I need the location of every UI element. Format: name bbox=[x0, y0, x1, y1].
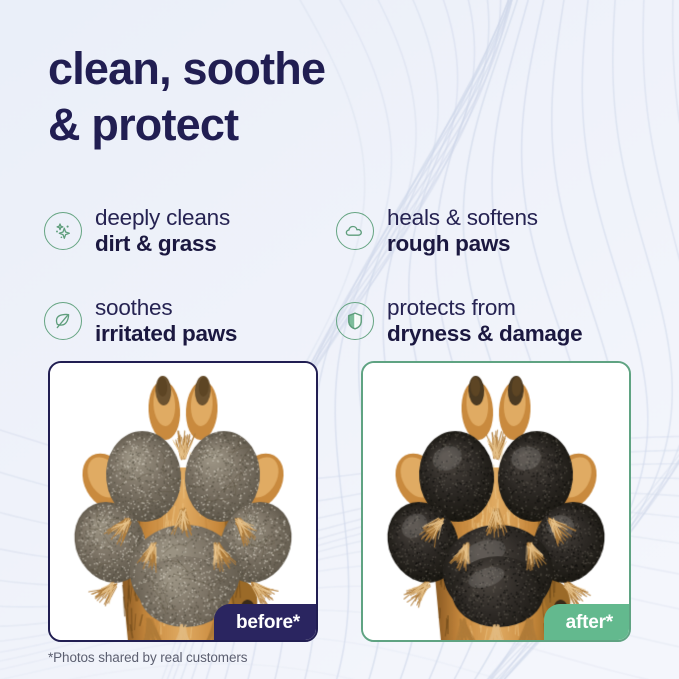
before-after-comparison: before* after* bbox=[48, 361, 631, 642]
feature-line-primary: heals & softens bbox=[387, 205, 538, 231]
product-benefits-page: clean, soothe & protect deeply cleans di… bbox=[0, 0, 679, 679]
dog-paw-photo-before bbox=[50, 363, 316, 640]
feature-text: heals & softens rough paws bbox=[387, 205, 538, 257]
shield-icon bbox=[336, 302, 374, 340]
footnote-disclaimer: *Photos shared by real customers bbox=[48, 650, 247, 665]
feature-text: soothes irritated paws bbox=[95, 295, 237, 347]
feature-item-deeply-cleans: deeply cleans dirt & grass bbox=[44, 186, 336, 276]
feature-item-heals-softens: heals & softens rough paws bbox=[336, 186, 658, 276]
status-badge-before: before* bbox=[214, 604, 318, 642]
feature-line-secondary: dirt & grass bbox=[95, 231, 230, 257]
cloud-icon bbox=[336, 212, 374, 250]
dog-paw-photo-after bbox=[363, 363, 629, 640]
feature-text: deeply cleans dirt & grass bbox=[95, 205, 230, 257]
feature-item-soothes: soothes irritated paws bbox=[44, 276, 336, 366]
feature-line-secondary: irritated paws bbox=[95, 321, 237, 347]
feature-line-primary: protects from bbox=[387, 295, 582, 321]
feature-line-primary: deeply cleans bbox=[95, 205, 230, 231]
sparkle-icon bbox=[44, 212, 82, 250]
feature-line-secondary: rough paws bbox=[387, 231, 538, 257]
photo-panel-before: before* bbox=[48, 361, 318, 642]
feature-line-primary: soothes bbox=[95, 295, 237, 321]
feature-line-secondary: dryness & damage bbox=[387, 321, 582, 347]
feature-list: deeply cleans dirt & grass heals & softe… bbox=[44, 186, 658, 366]
status-badge-after: after* bbox=[544, 604, 631, 642]
leaf-icon bbox=[44, 302, 82, 340]
feature-text: protects from dryness & damage bbox=[387, 295, 582, 347]
page-title: clean, soothe & protect bbox=[48, 41, 325, 153]
photo-panel-after: after* bbox=[361, 361, 631, 642]
feature-item-protects: protects from dryness & damage bbox=[336, 276, 658, 366]
